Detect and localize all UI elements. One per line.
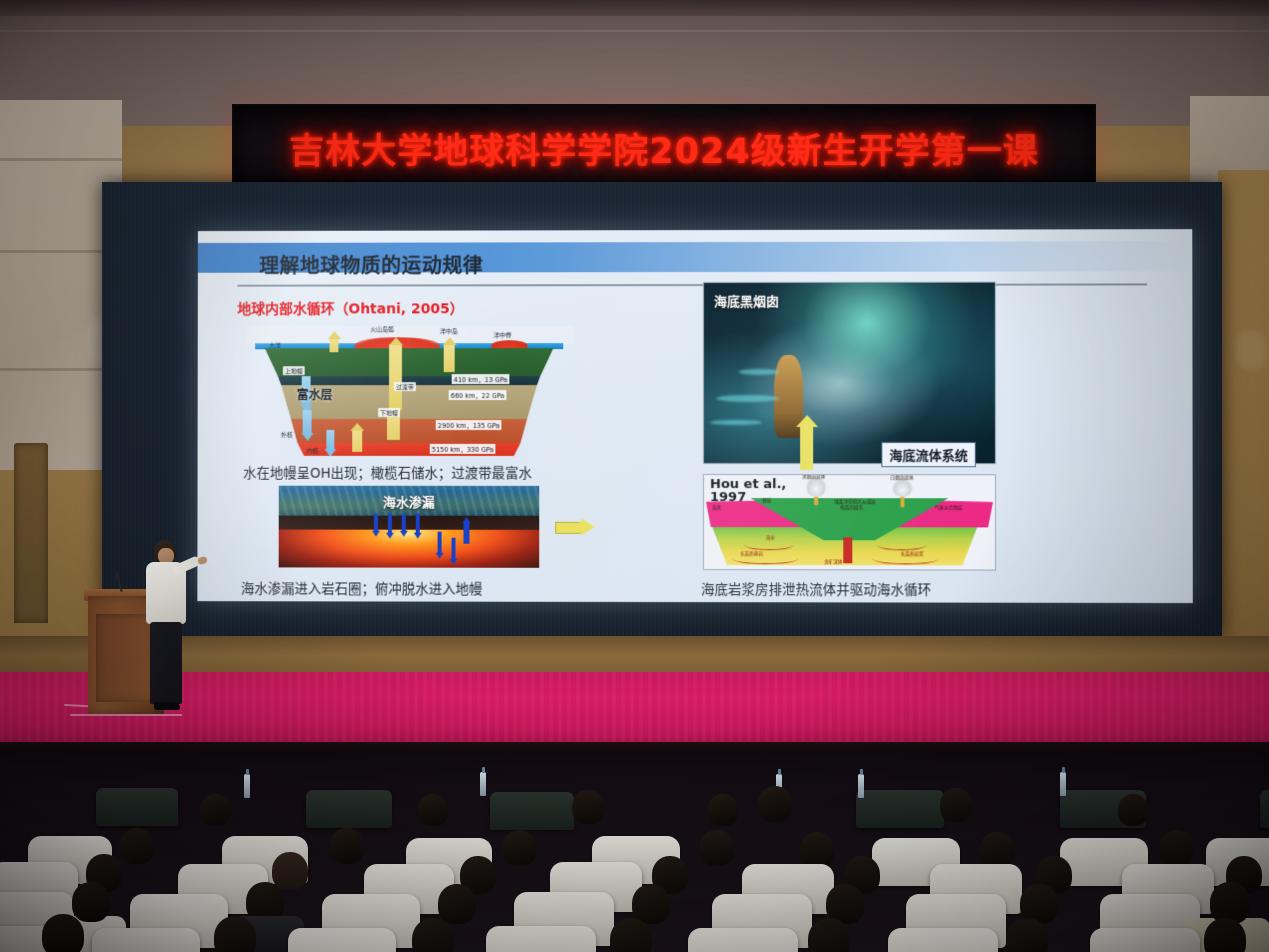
seat[interactable]	[888, 928, 998, 952]
audience-head	[610, 918, 652, 952]
label-mid-ocean-ridge: 洋中脊	[493, 330, 511, 339]
hou-citation-line2: 1997	[710, 490, 746, 505]
audience-head	[940, 788, 972, 822]
audience-head	[120, 828, 154, 864]
audience-head	[800, 832, 834, 868]
seat[interactable]	[486, 926, 596, 952]
exec-chair	[96, 788, 178, 826]
black-smoker-figure: 海底黑烟囱	[703, 282, 996, 465]
seat[interactable]	[288, 928, 396, 952]
label-outer-core: 外核	[281, 430, 293, 439]
seat[interactable]	[688, 928, 798, 952]
ceiling-shadow	[0, 0, 1269, 16]
audience-head	[1160, 830, 1194, 866]
upwelling-arrow	[389, 344, 402, 410]
slide-title: 理解地球物质的运动规律	[259, 249, 483, 278]
hou-label-felsic-basement: 长英质基岩	[740, 551, 763, 557]
audience-head	[808, 918, 850, 952]
hou-label-black-fluid: 黑烟囱流体	[802, 474, 825, 480]
depth-2900: 2900 km，135 GPa	[436, 420, 502, 430]
speaker-shoes	[154, 702, 180, 710]
water-bottle	[1060, 772, 1066, 796]
wall-mark	[1236, 330, 1266, 370]
upwelling-arrow	[352, 430, 362, 452]
exec-chair	[306, 790, 392, 828]
speaker-legs	[150, 622, 182, 704]
earth-water-cycle-figure: 大洋 火山岛弧 洋中岛 洋中脊 上地幔 富水层 过渡带 下地幔 外核 内核 41…	[245, 326, 573, 454]
exec-chair	[490, 792, 574, 830]
audience-head	[700, 830, 734, 866]
hou-label-structure: 构造的组先	[840, 505, 863, 511]
hou-label-seafloor: 海底	[712, 505, 721, 511]
label-ocean: 大洋	[269, 340, 281, 349]
downwelling-arrow	[326, 430, 334, 450]
audience-head	[1204, 918, 1246, 952]
outer-core-layer	[245, 419, 573, 443]
led-banner-text: 吉林大学地球科学学院2024级新生开学第一课	[289, 123, 1038, 174]
label-upper-mantle: 上地幔	[283, 366, 305, 375]
label-transition-zone: 过渡带	[394, 382, 416, 391]
label-ocean-island: 洋中岛	[440, 326, 458, 335]
speaker	[140, 540, 206, 716]
seawater-infiltration-figure: 海水渗漏	[279, 486, 540, 568]
left-column-heading: 地球内部水循环（Ohtani, 2005）	[237, 298, 463, 318]
label-volcanic-arc: 火山岛弧	[370, 324, 394, 333]
label-lower-mantle: 下地幔	[378, 408, 400, 417]
audience-head	[1118, 794, 1148, 826]
infiltration-arrow	[388, 514, 392, 534]
audience-head	[980, 832, 1014, 868]
audience-head	[1006, 918, 1048, 952]
hou-1997-figure: Hou et al., 1997 海底 脊前 气体水合物层 黑烟囱流体 白烟囱流…	[703, 474, 996, 571]
upwelling-arrow	[444, 344, 455, 372]
hou-label-felsic-magma: 长英质岩浆	[900, 551, 923, 557]
audience-head	[42, 914, 84, 952]
hou-label-ridge: 脊前	[762, 498, 771, 504]
infiltration-arrow	[438, 532, 442, 554]
hou-label-ore-fluid: 含矿流体	[824, 559, 842, 565]
audience-head	[412, 918, 454, 952]
hou-label-seawater: 海水	[766, 535, 775, 541]
depth-410: 410 km，13 GPa	[452, 374, 510, 384]
audience-head	[214, 916, 256, 952]
water-bottle	[858, 774, 864, 798]
audience-head	[72, 882, 110, 922]
audience-area	[0, 752, 1269, 952]
audience-head	[708, 794, 738, 826]
led-banner: 吉林大学地球科学学院2024级新生开学第一课	[232, 104, 1096, 192]
title-divider	[237, 283, 1147, 286]
depth-660: 660 km，22 GPa	[449, 390, 507, 400]
label-water-rich-layer: 富水层	[297, 386, 333, 403]
auditorium-scene: 吉林大学地球科学学院2024级新生开学第一课 理解地球物质的运动规律 地球内部水…	[0, 0, 1269, 952]
audience-head	[418, 794, 448, 826]
water-bottle	[480, 772, 486, 796]
inner-core-layer	[245, 443, 573, 456]
caption-bottom-left: 海水渗漏进入岩石圈；俯冲脱水进入地幔	[241, 577, 482, 597]
audience-head	[272, 852, 308, 890]
water-bottle	[244, 774, 250, 798]
seawater-seepage-label: 海水渗漏	[383, 492, 435, 511]
audience-head	[502, 830, 536, 866]
audience-head	[572, 790, 604, 824]
audience-head	[438, 884, 476, 924]
upward-fluid-arrow	[463, 522, 469, 544]
infiltration-arrow	[416, 514, 420, 534]
seafloor-fluid-system-label: 海底流体系统	[881, 442, 975, 467]
hou-citation: Hou et al., 1997	[710, 478, 786, 505]
black-smoker-label: 海底黑烟囱	[714, 291, 779, 310]
depth-5150: 5150 km，330 GPa	[430, 444, 496, 454]
flow-arrow-icon	[555, 518, 595, 536]
audience-head	[330, 828, 364, 864]
presentation-slide: 理解地球物质的运动规律 地球内部水循环（Ohtani, 2005）	[197, 229, 1192, 603]
audience-head	[758, 786, 792, 822]
upwelling-arrow	[330, 338, 339, 352]
label-inner-core: 内核	[307, 446, 319, 455]
seat[interactable]	[92, 928, 200, 952]
caption-bottom-right: 海底岩浆房排泄热流体并驱动海水循环	[701, 578, 931, 598]
infiltration-arrow	[452, 538, 456, 560]
caption-top-left: 水在地幔呈OH出现；橄榄石储水；过渡带最富水	[243, 462, 532, 482]
infiltration-arrow	[374, 514, 378, 532]
exec-chair	[856, 790, 944, 828]
audience-head	[200, 794, 230, 826]
vent-flow-arrow-icon	[800, 426, 813, 470]
hou-label-hydrate: 气体水合物层	[935, 505, 963, 511]
white-smoker-plume	[892, 479, 912, 497]
downwelling-arrow	[303, 410, 312, 434]
side-door[interactable]	[14, 443, 48, 623]
infiltration-arrow	[402, 514, 406, 532]
seat[interactable]	[1090, 928, 1200, 952]
hou-label-white-fluid: 白烟囱流体	[890, 475, 913, 481]
exec-chair	[1260, 790, 1269, 828]
